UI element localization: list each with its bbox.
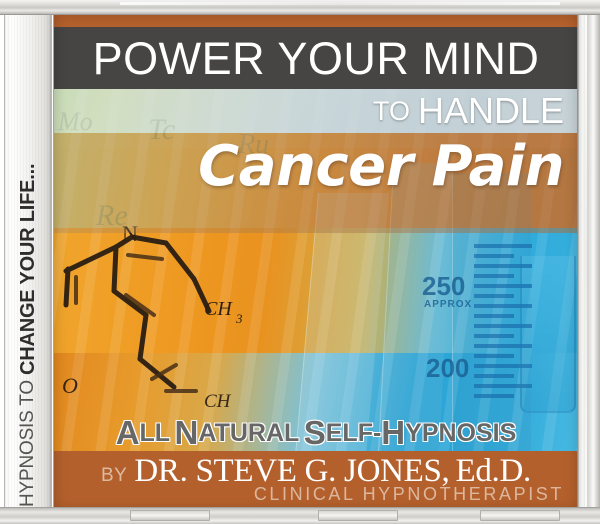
tagline-s: S [304, 414, 326, 452]
spine-light-text: HYPNOSIS TO [17, 380, 39, 507]
beaker-marking-250: 250 [422, 271, 465, 302]
tagline-n: N [175, 414, 199, 452]
cd-jewel-case: HYPNOSIS TO CHANGE YOUR LIFE... Mo Tc Ru… [0, 0, 600, 524]
svg-text:CH: CH [204, 391, 232, 412]
headline-power-your-mind: POWER YOUR MIND [54, 27, 578, 89]
tagline-ll: LL [140, 419, 171, 448]
subject-title: Cancer Pain [198, 139, 564, 195]
beaker-graphic [474, 238, 578, 423]
spine-text-group: HYPNOSIS TO CHANGE YOUR LIFE... [5, 13, 51, 513]
tagline-h: H [381, 414, 405, 452]
tagline-atural: ATURAL [198, 419, 299, 448]
chemical-structure-graphic: N CH 3 O CH [54, 219, 344, 419]
beaker-glass [520, 256, 576, 413]
tagline-ypnosis: YPNOSIS [405, 419, 516, 448]
svg-text:3: 3 [235, 311, 243, 326]
byline-prefix: BY [101, 465, 127, 487]
beaker-marking-approx: APPROX [424, 299, 472, 310]
author-professional-title: CLINICAL HYPNOTHERAPIST [254, 484, 564, 505]
case-top-lip [0, 0, 600, 15]
tagline-a: A [116, 414, 140, 452]
byline: BY DR. STEVE G. JONES, Ed.D. [54, 453, 578, 487]
case-right-edge [577, 0, 600, 524]
case-clip-2 [318, 510, 398, 521]
tagline-all-natural-self-hypnosis: ALL NATURAL SELF-HYPNOSIS [54, 415, 578, 451]
svg-text:O: O [62, 373, 78, 398]
case-clip-1 [130, 510, 210, 521]
case-bottom-lip [0, 507, 600, 524]
tagline-elf: ELF- [326, 419, 382, 448]
headline-handle: HANDLE [418, 90, 564, 132]
svg-text:CH: CH [204, 298, 233, 320]
headline-to: TO [373, 96, 410, 127]
top-orange-band [54, 13, 578, 27]
headline-to-handle: TO HANDLE [373, 89, 564, 133]
spine-bold-text: CHANGE YOUR LIFE... [17, 164, 40, 375]
cd-cover-art: Mo Tc Ru Re [54, 13, 578, 511]
case-clip-3 [480, 510, 560, 521]
cd-spine: HYPNOSIS TO CHANGE YOUR LIFE... [4, 12, 52, 514]
beaker-marking-200: 200 [426, 353, 469, 384]
